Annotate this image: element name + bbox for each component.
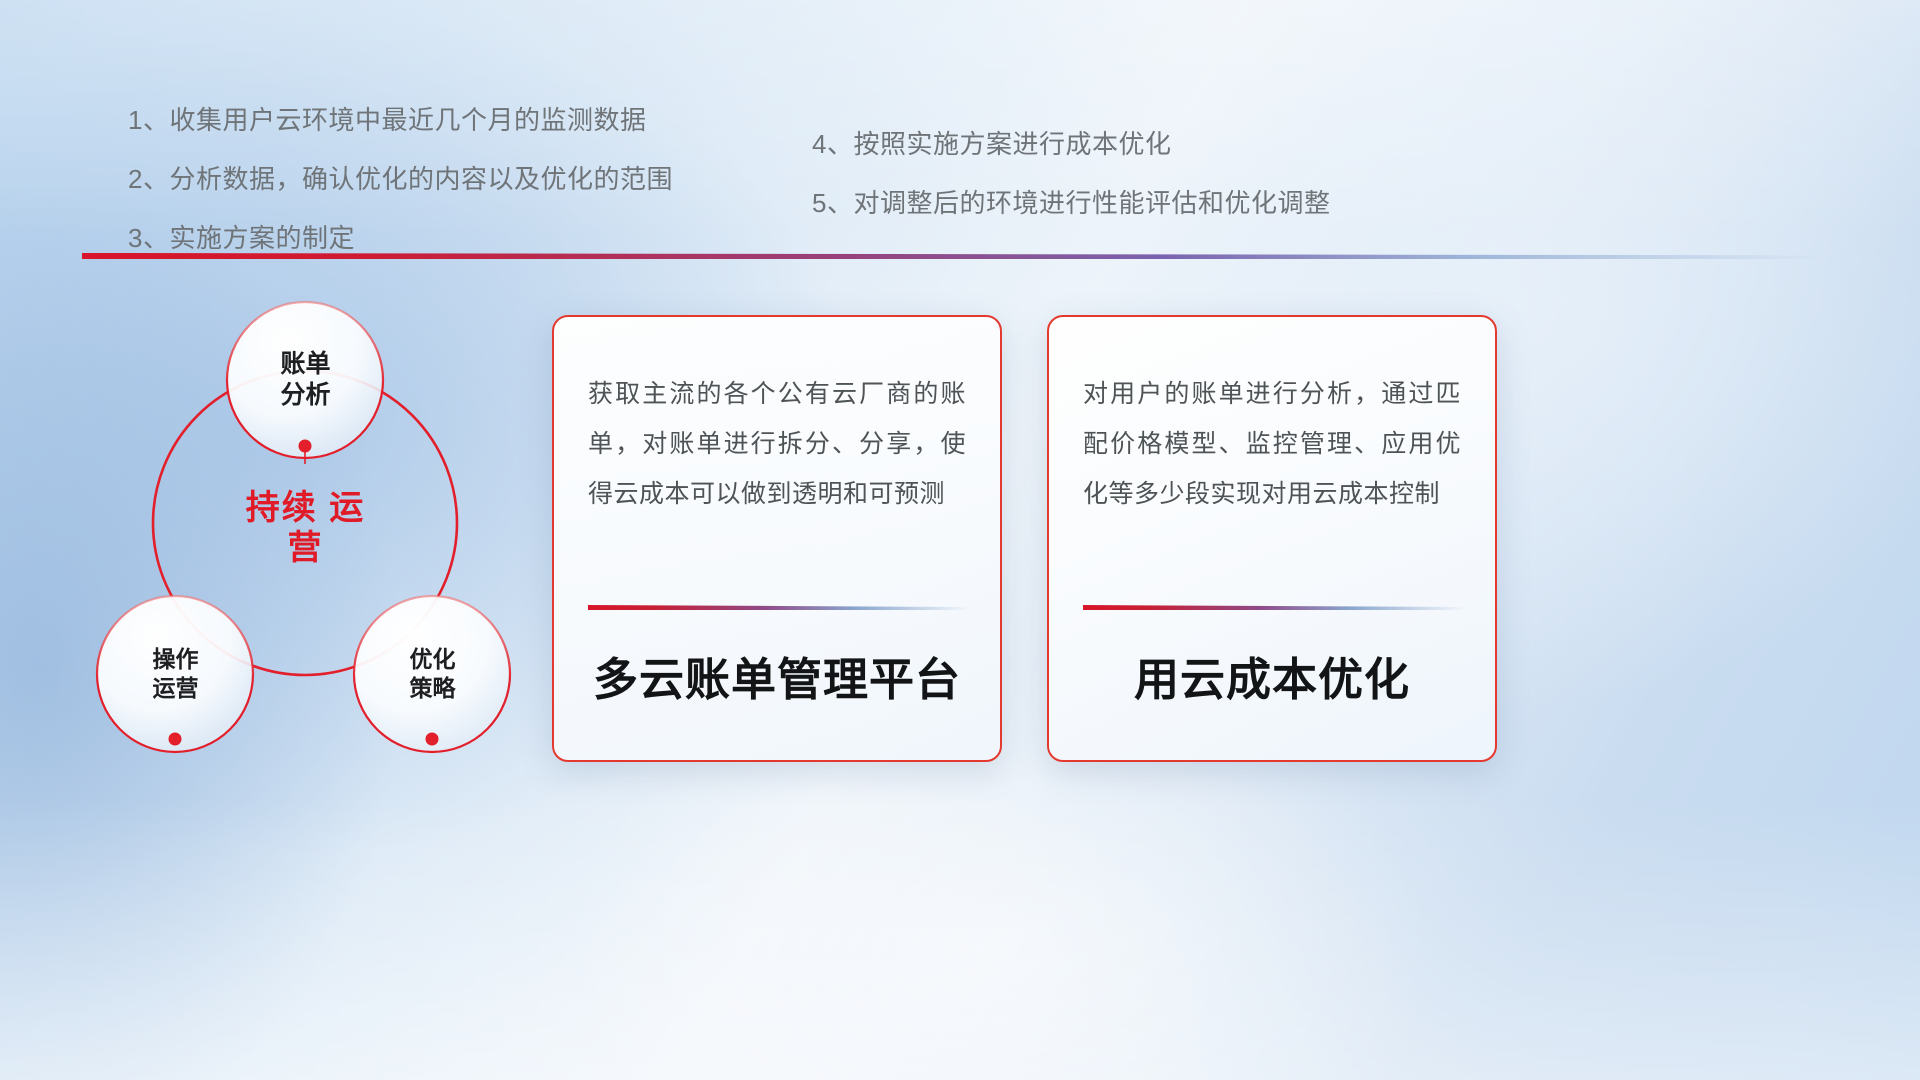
card-divider-rule [588,605,970,610]
steps-list-left: 1、收集用户云环境中最近几个月的监测数据 2、分析数据，确认优化的内容以及优化的… [128,100,673,277]
diagram-bubble-operations[interactable]: 操作 运营 [98,596,253,751]
center-label-line1: 持续 [246,489,318,527]
step-item: 2、分析数据，确认优化的内容以及优化的范围 [128,159,673,196]
diagram-center-label: 持续 运营 [233,488,378,568]
info-card-multicloud-billing[interactable]: 获取主流的各个公有云厂商的账单，对账单进行拆分、分享，使得云成本可以做到透明和可… [552,315,1002,762]
bubble-label-line2: 分析 [280,380,330,411]
steps-list-right: 4、按照实施方案进行成本优化 5、对调整后的环境进行性能评估和优化调整 [812,124,1330,242]
info-card-cloud-cost-optimization[interactable]: 对用户的账单进行分析，通过匹配价格模型、监控管理、应用优化等多少段实现对用云成本… [1047,315,1497,762]
diagram-bubble-bill-analysis[interactable]: 账单 分析 [228,302,383,457]
continuous-operation-diagram: 账单 分析 操作 运营 优化 策略 持续 运营 [78,288,548,768]
bubble-label-line2: 运营 [153,674,199,702]
bubble-label-line1: 操作 [153,645,199,673]
bubble-label-line1: 优化 [410,645,456,673]
step-item: 1、收集用户云环境中最近几个月的监测数据 [128,100,673,137]
card-body-text: 对用户的账单进行分析，通过匹配价格模型、监控管理、应用优化等多少段实现对用云成本… [1083,369,1461,519]
step-item: 5、对调整后的环境进行性能评估和优化调整 [812,183,1330,220]
card-body-text: 获取主流的各个公有云厂商的账单，对账单进行拆分、分享，使得云成本可以做到透明和可… [588,369,966,519]
bubble-label-line1: 账单 [280,349,330,380]
card-title: 多云账单管理平台 [554,643,1000,708]
diagram-bubble-optimization-strategy[interactable]: 优化 策略 [355,596,510,751]
bubble-label-line2: 策略 [410,674,456,702]
card-title: 用云成本优化 [1049,643,1495,708]
card-divider-rule [1083,605,1465,610]
step-item: 3、实施方案的制定 [128,218,673,255]
step-item: 4、按照实施方案进行成本优化 [812,124,1330,161]
